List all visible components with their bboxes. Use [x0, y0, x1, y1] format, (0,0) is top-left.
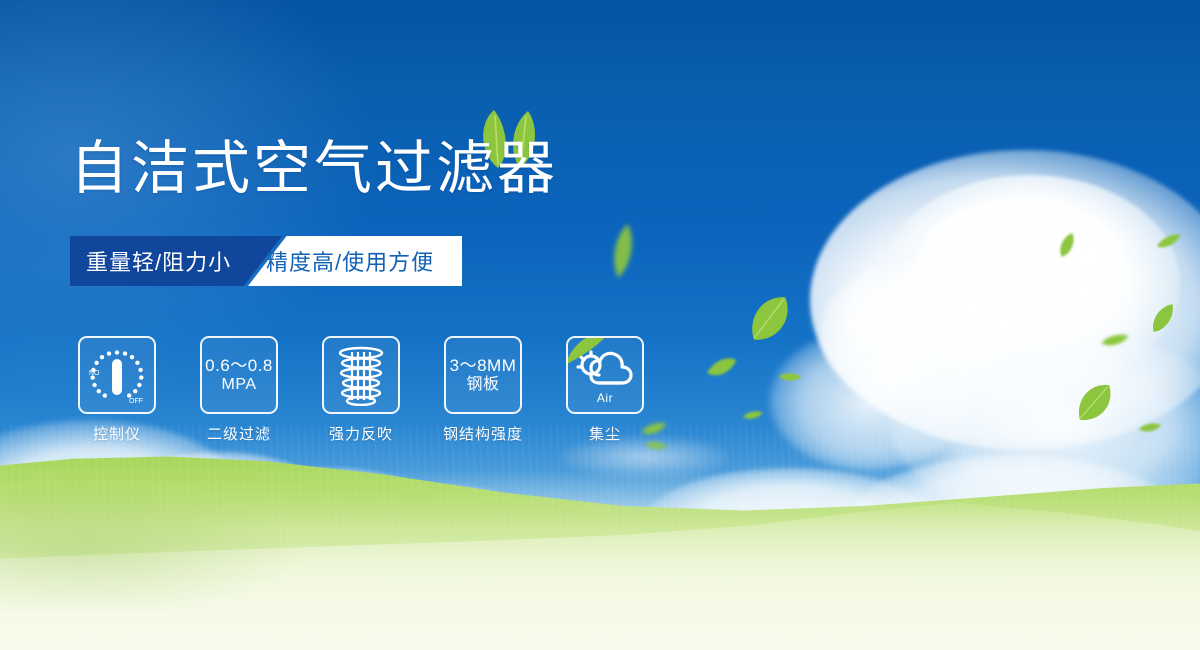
feature-label: 钢结构强度 [443, 423, 523, 444]
feature-box: NO OFF [78, 336, 156, 414]
feature-item-dust[interactable]: Air 集尘 [566, 336, 644, 444]
feature-item-steel[interactable]: 3～8MM 钢板 钢结构强度 [444, 336, 522, 444]
feature-item-pressure[interactable]: 0.6～0.8 MPA 二级过滤 [200, 336, 278, 444]
steel-plate-text-icon: 3～8MM 钢板 [450, 356, 517, 395]
feature-item-backblow[interactable]: 强力反吹 [322, 336, 400, 444]
pressure-text-icon: 0.6～0.8 MPA [205, 356, 273, 395]
dial-no-label: NO [89, 370, 100, 377]
feature-list: NO OFF 控制仪 0.6～0.8 MPA 二级过滤 [78, 336, 644, 444]
air-cloud-icon [574, 348, 636, 396]
dial-off-label: OFF [129, 398, 143, 405]
control-dial-icon: NO OFF [84, 342, 150, 408]
feature-box: 3～8MM 钢板 [444, 336, 522, 414]
feature-box: Air [566, 336, 644, 414]
page-title: 自洁式空气过滤器 [70, 140, 558, 198]
feature-label: 二级过滤 [207, 423, 271, 444]
feature-item-control-dial[interactable]: NO OFF 控制仪 [78, 336, 156, 444]
filter-cartridge-icon [332, 344, 390, 406]
product-hero-banner: 自洁式空气过滤器 重量轻/阻力小 精度高/使用方便 [0, 0, 1200, 650]
feature-label: 集尘 [589, 423, 621, 444]
subtitle-bar: 重量轻/阻力小 精度高/使用方便 [70, 236, 462, 286]
pressure-range: 0.6～0.8 [205, 356, 273, 375]
steel-material: 钢板 [450, 376, 517, 395]
pressure-unit: MPA [205, 376, 273, 395]
steel-thickness: 3～8MM [450, 356, 517, 375]
subtitle-right-text: 精度高/使用方便 [266, 236, 434, 286]
feature-label: 强力反吹 [329, 423, 393, 444]
feature-box: 0.6～0.8 MPA [200, 336, 278, 414]
feature-label: 控制仪 [93, 423, 141, 444]
feature-box [322, 336, 400, 414]
subtitle-left-text: 重量轻/阻力小 [86, 236, 231, 286]
air-label: Air [568, 391, 642, 405]
